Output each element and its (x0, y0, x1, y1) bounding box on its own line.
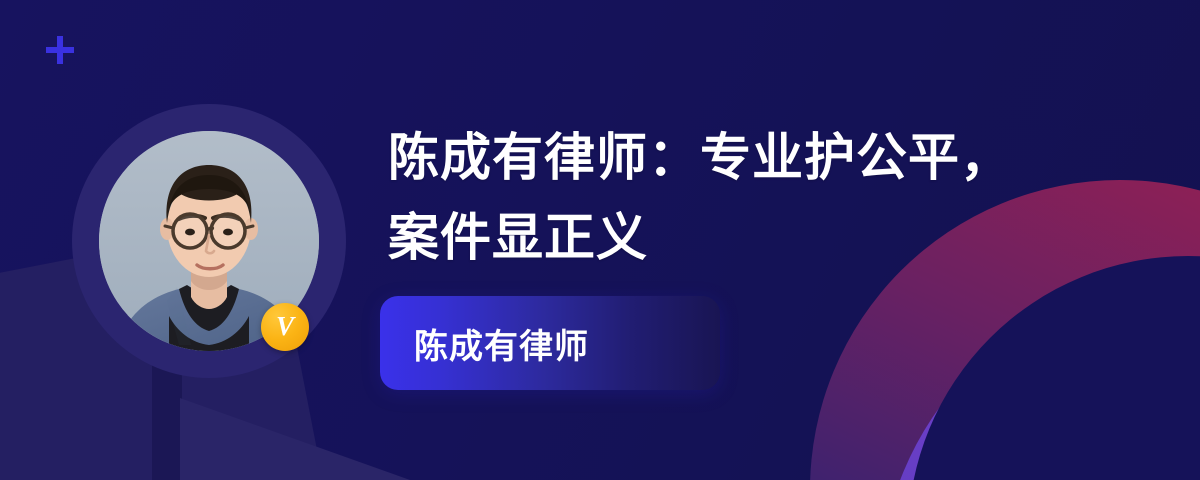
lawyer-name-button[interactable]: 陈成有律师 (380, 296, 720, 390)
page-title: 陈成有律师：专业护公平，案件显正义 (388, 118, 1028, 278)
profile-banner: V 陈成有律师：专业护公平，案件显正义 陈成有律师 (0, 0, 1200, 480)
plus-icon (46, 36, 74, 64)
decorative-arc-inner (880, 280, 1200, 480)
decorative-arc-mask (908, 256, 1200, 480)
decorative-triangle-wedge (180, 398, 410, 480)
verified-badge: V (261, 303, 309, 351)
avatar[interactable]: V (72, 104, 346, 378)
verified-check-glyph: V (276, 313, 294, 340)
content-block: 陈成有律师：专业护公平，案件显正义 (388, 118, 1028, 278)
